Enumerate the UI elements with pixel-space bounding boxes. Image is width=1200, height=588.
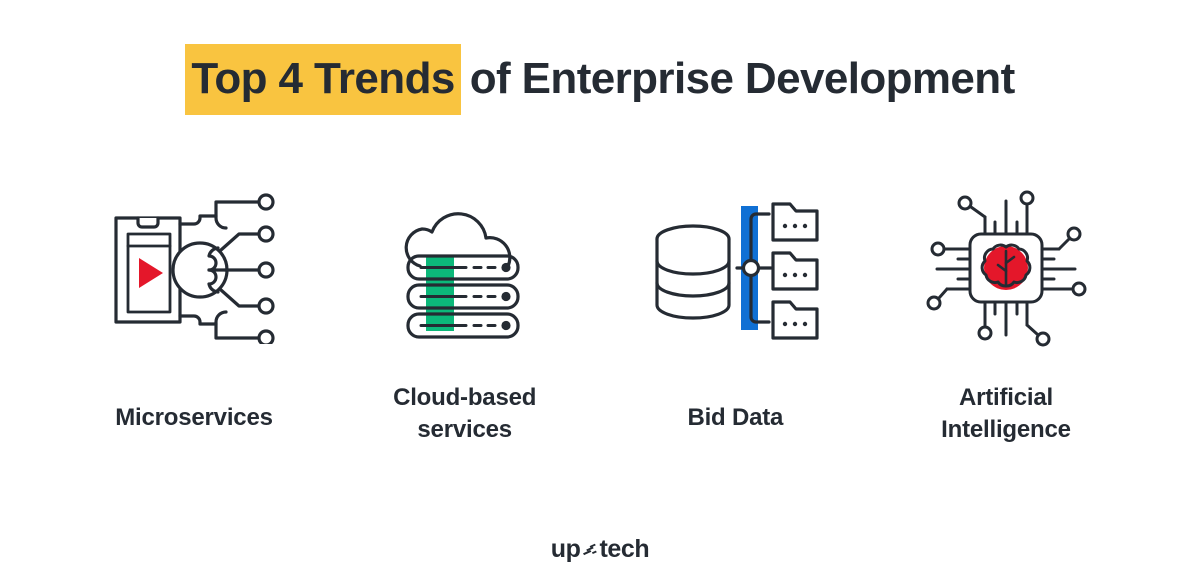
uptech-swoosh-mark bbox=[581, 542, 598, 559]
microservices-icon bbox=[104, 185, 284, 350]
title-line: Top 4 Trendsof Enterprise Development bbox=[185, 57, 1014, 101]
big-data-icon bbox=[645, 185, 825, 350]
page-title: Top 4 Trendsof Enterprise Development bbox=[0, 44, 1200, 114]
artificial-intelligence-icon bbox=[916, 185, 1096, 350]
trend-label-artificial-intelligence: Artificial Intelligence bbox=[891, 382, 1121, 445]
trend-label-microservices: Microservices bbox=[115, 402, 273, 434]
trend-item-microservices: Microservices bbox=[60, 185, 328, 434]
trend-label-cloud-services: Cloud-based services bbox=[350, 382, 580, 445]
trend-item-artificial-intelligence: Artificial Intelligence bbox=[872, 185, 1140, 445]
trend-item-cloud-services: Cloud-based services bbox=[331, 185, 599, 445]
logo-text-tech: tech bbox=[599, 537, 649, 562]
trend-columns: Microservices bbox=[60, 185, 1140, 475]
cloud-services-icon bbox=[375, 185, 555, 350]
trend-item-big-data: Bid Data bbox=[601, 185, 869, 434]
logo-text-up: up bbox=[551, 537, 581, 562]
trend-label-big-data: Bid Data bbox=[687, 402, 783, 434]
title-highlight: Top 4 Trends bbox=[185, 44, 460, 115]
title-remainder: of Enterprise Development bbox=[461, 54, 1015, 103]
uptech-logo[interactable]: up tech bbox=[0, 532, 1200, 566]
infographic-canvas: Top 4 Trendsof Enterprise Development bbox=[0, 0, 1200, 588]
